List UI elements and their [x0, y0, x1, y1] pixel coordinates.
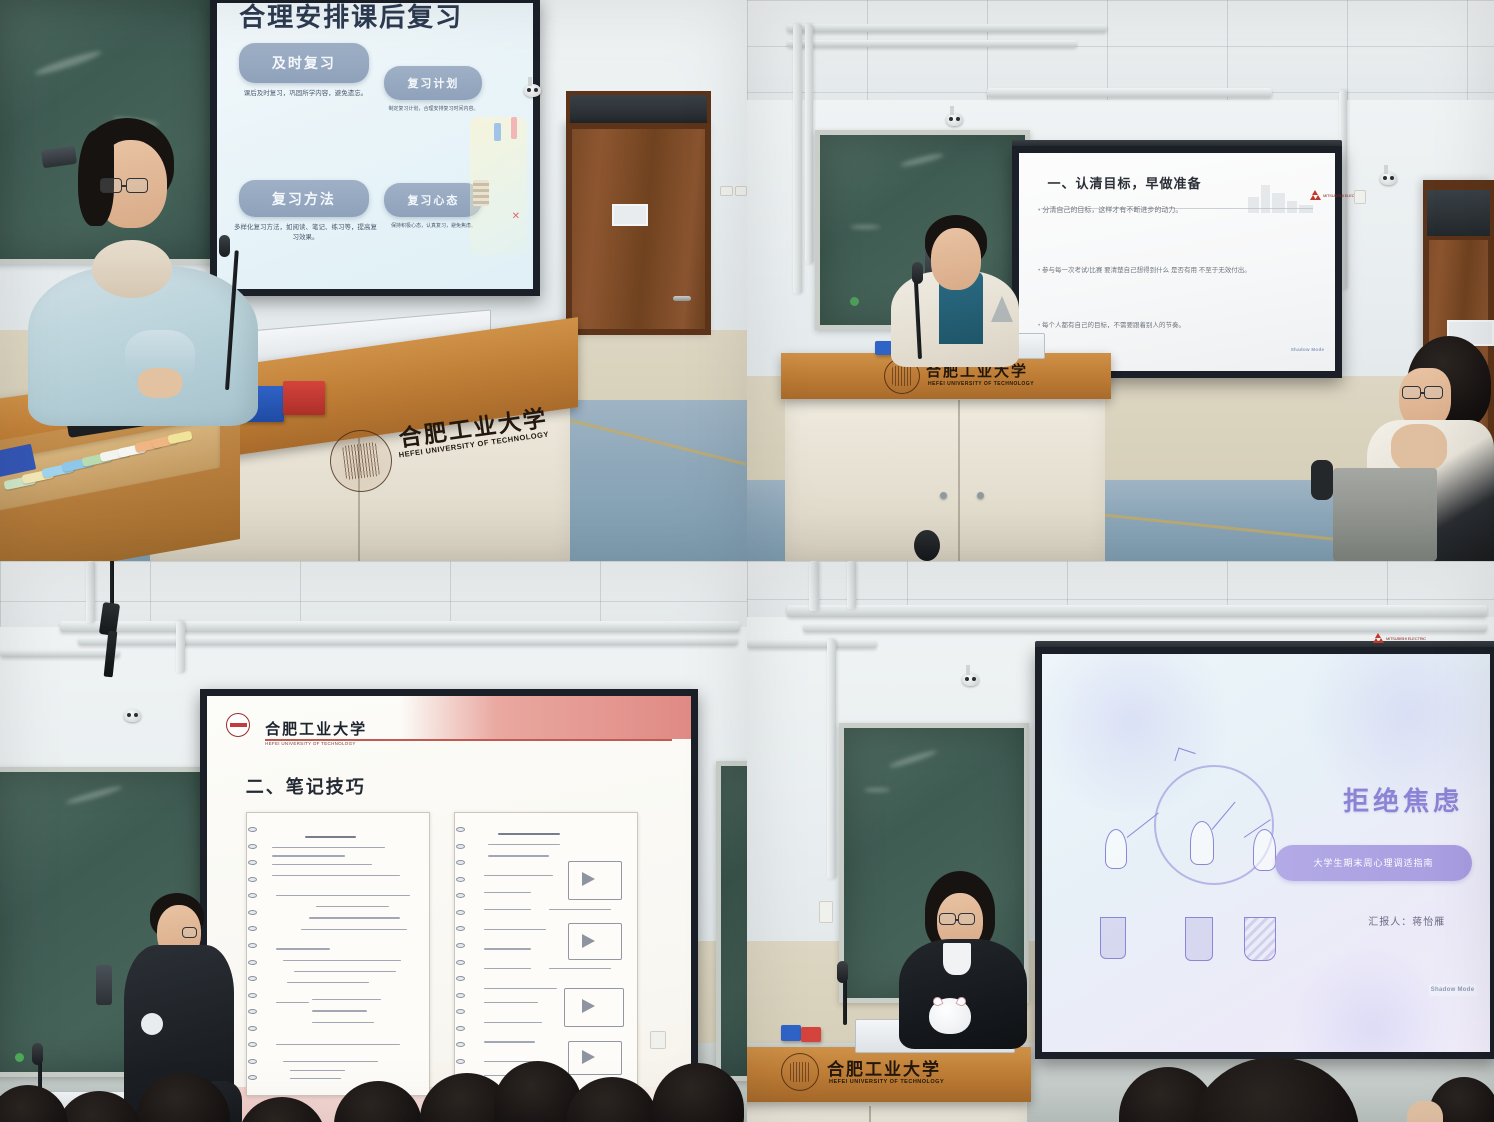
slide-box-4: 复习心态 — [384, 183, 482, 217]
illustration-skirt-3 — [1244, 917, 1276, 961]
projection-screen: 合肥工业大学 HEFEI UNIVERSITY OF TECHNOLOGY 二、… — [200, 689, 698, 1122]
slide-surface: 合理安排课后复习 及时复习 课后及时复习，巩固所学内容，避免遗忘。 复习计划 制… — [217, 3, 533, 289]
illustration-figure-2 — [1190, 821, 1214, 865]
projector-brand-label: MITSUBISHI ELECTRIC — [1386, 636, 1426, 641]
opamp-symbol-icon — [582, 872, 595, 886]
note-image-right — [454, 812, 638, 1096]
podium-seam — [869, 1106, 871, 1122]
podium-body — [747, 1101, 1027, 1122]
presenter-glasses-bridge — [956, 919, 959, 921]
projection-screen: 一、认清目标，早做准备 分清自己的目标，这样才有不断进步的动力。 参与每一次考试… — [1012, 146, 1342, 378]
power-outlet[interactable] — [819, 901, 833, 923]
note-image-left — [246, 812, 430, 1096]
wall-conduit — [86, 561, 95, 623]
blackboard-right — [716, 761, 747, 1081]
panel-bottom-left: 合肥工业大学 HEFEI UNIVERSITY OF TECHNOLOGY 二、… — [0, 561, 747, 1122]
cross-icon: ✕ — [511, 212, 520, 221]
security-camera-icon — [962, 673, 979, 686]
panel-bottom-right: 拒绝焦虑 大学生期末周心理调适指南 汇报人：蒋怡雁 Shadow Mode MI… — [747, 561, 1494, 1122]
ceiling-conduit — [787, 24, 1107, 32]
slide-box-1-desc: 课后及时复习，巩固所学内容，避免遗忘。 — [233, 89, 378, 99]
hanging-mic-cable — [110, 561, 114, 609]
presenter-glasses — [182, 927, 197, 938]
illustration-figure-1 — [1105, 829, 1127, 869]
camera-mount — [1384, 165, 1388, 174]
wall-conduit — [805, 24, 813, 264]
speaker-icon — [914, 530, 940, 561]
door-transom-window — [1423, 186, 1494, 240]
blue-marker-box[interactable] — [781, 1025, 801, 1041]
slide-bullet-1: 分清自己的目标，这样才有不断进步的动力。 — [1038, 205, 1182, 215]
classroom-door[interactable] — [566, 123, 711, 335]
podium-university-name-cn: 合肥工业大学 — [827, 1055, 941, 1080]
power-outlet[interactable] — [735, 186, 747, 196]
door-handle[interactable] — [673, 296, 691, 301]
slide-subtitle-pill: 大学生期末周心理调适指南 — [1275, 845, 1472, 881]
spiral-rings — [248, 816, 257, 1092]
slide-bullet-2: 参与每一次考试/比赛 要清楚自己想得到什么 是否有用 不至于无效付出。 — [1038, 264, 1251, 274]
slide-title: 一、认清目标，早做准备 — [1047, 173, 1201, 192]
slide-box-1: 及时复习 — [239, 43, 369, 83]
red-marker-box[interactable] — [283, 381, 325, 415]
slide-title: 合理安排课后复习 — [239, 3, 463, 34]
wall-conduit — [827, 639, 836, 879]
ceiling-conduit — [787, 605, 1487, 617]
student-glasses-left — [1402, 386, 1421, 399]
opamp-symbol-icon — [582, 999, 595, 1013]
slide-watermark: Shadow Mode — [1290, 345, 1326, 354]
slide-title: 拒绝焦虑 — [1343, 781, 1463, 818]
status-light — [15, 1053, 24, 1062]
presenter-glasses-right — [958, 913, 975, 925]
presenter-glasses-right — [126, 178, 148, 193]
slide-logo-cn: 合肥工业大学 — [265, 718, 367, 739]
wall-conduit — [0, 649, 120, 657]
presenter-glasses-left — [100, 178, 122, 193]
power-outlet[interactable] — [1354, 190, 1366, 204]
slide-surface: 一、认清目标，早做准备 分清自己的目标，这样才有不断进步的动力。 参与每一次考试… — [1019, 153, 1335, 371]
cabinet-handle[interactable] — [977, 492, 984, 499]
panel-top-left: 合理安排课后复习 及时复习 课后及时复习，巩固所学内容，避免遗忘。 复习计划 制… — [0, 0, 747, 561]
spiral-rings — [456, 816, 465, 1092]
illustration-figure-3 — [1253, 829, 1276, 871]
student-glasses-right — [1424, 386, 1443, 399]
wall-conduit-horizontal — [987, 88, 1272, 97]
security-camera-icon — [524, 84, 541, 97]
wall-conduit — [809, 561, 819, 611]
skyline-decoration — [1246, 179, 1316, 213]
red-marker-box[interactable] — [801, 1027, 821, 1042]
book-icon — [494, 123, 501, 141]
jacket-badge — [141, 1013, 163, 1035]
wall-conduit — [847, 561, 856, 609]
presenter-collar — [943, 943, 971, 975]
security-camera-icon — [946, 113, 963, 126]
slide-box-3: 复习方法 — [239, 180, 369, 217]
microphone-head — [219, 235, 230, 257]
presenter-scarf — [92, 240, 172, 298]
slide-box-3-desc: 多样化复习方法，如阅读、笔记、练习等，提高复习效果。 — [233, 223, 378, 243]
wall-conduit — [793, 24, 802, 294]
university-seal — [781, 1053, 819, 1091]
opamp-symbol-icon — [582, 934, 595, 948]
blue-marker-box[interactable] — [875, 341, 892, 355]
ceiling-conduit — [803, 623, 1487, 632]
slide-box-2: 复习计划 — [384, 66, 482, 100]
presenter-glasses-bridge — [122, 185, 127, 187]
podium-seam — [958, 400, 960, 561]
illustration-skirt-1 — [1100, 917, 1126, 959]
security-camera-icon — [1380, 172, 1397, 185]
podium-university-name-en: HEFEI UNIVERSITY OF TECHNOLOGY — [928, 381, 1034, 387]
slide-watermark: Shadow Mode — [1429, 984, 1477, 996]
opamp-symbol-icon — [582, 1050, 595, 1064]
audience-face — [1407, 1101, 1443, 1122]
ceiling-conduit — [787, 40, 1077, 47]
security-camera-icon — [124, 709, 141, 722]
wall-conduit — [176, 621, 185, 673]
student-glasses-bridge — [1421, 392, 1425, 394]
slide-presenter: 汇报人：蒋怡雁 — [1368, 913, 1445, 928]
presenter-head — [931, 228, 981, 290]
book-icon — [511, 117, 517, 139]
podium-university-name-en: HEFEI UNIVERSITY OF TECHNOLOGY — [829, 1079, 944, 1085]
panel-top-right: 一、认清目标，早做准备 分清自己的目标，这样才有不断进步的动力。 参与每一次考试… — [747, 0, 1494, 561]
photo-collage: 合理安排课后复习 及时复习 课后及时复习，巩固所学内容，避免遗忘。 复习计划 制… — [0, 0, 1494, 1122]
door-transom-window — [566, 91, 711, 127]
ceiling-conduit — [60, 621, 740, 632]
slide-box-2-desc: 制定复习计划，合理安排复习时间内容。 — [378, 106, 489, 114]
presenter-hand — [138, 368, 182, 398]
microphone-head — [912, 262, 923, 284]
projection-screen: 拒绝焦虑 大学生期末周心理调适指南 汇报人：蒋怡雁 Shadow Mode — [1035, 647, 1494, 1059]
microphone-head — [837, 961, 848, 983]
wall-conduit — [747, 639, 877, 648]
blackboard-eraser — [96, 965, 112, 1005]
slide-surface: 拒绝焦虑 大学生期末周心理调适指南 汇报人：蒋怡雁 Shadow Mode — [1042, 654, 1490, 1052]
chair-back — [1333, 468, 1437, 561]
illustration-skirt-2 — [1185, 917, 1213, 961]
slide-surface: 合肥工业大学 HEFEI UNIVERSITY OF TECHNOLOGY 二、… — [207, 696, 691, 1122]
slide-title: 二、笔记技巧 — [246, 773, 366, 799]
microphone-head — [32, 1043, 43, 1065]
camera-mount — [528, 77, 532, 86]
light-switch[interactable] — [720, 186, 733, 196]
camera-mount — [950, 106, 954, 115]
projection-screen: 合理安排课后复习 及时复习 课后及时复习，巩固所学内容，避免遗忘。 复习计划 制… — [210, 0, 540, 296]
podium-body — [785, 398, 1105, 561]
cabinet-handle[interactable] — [940, 492, 947, 499]
student-hand — [1391, 424, 1447, 472]
books-stack-icon — [473, 180, 489, 206]
camera-mount — [966, 665, 970, 675]
slide-bullet-3: 每个人都有自己的目标，不需要跟着别人的节奏。 — [1038, 319, 1185, 329]
power-outlet[interactable] — [650, 1031, 666, 1049]
mitsubishi-logo-icon: MITSUBISHI ELECTRIC — [1373, 633, 1426, 643]
presenter-glasses-left — [939, 913, 956, 925]
slide-logo-en: HEFEI UNIVERSITY OF TECHNOLOGY — [265, 741, 356, 746]
door-sign — [612, 204, 648, 226]
chair-armrest — [1311, 460, 1333, 500]
